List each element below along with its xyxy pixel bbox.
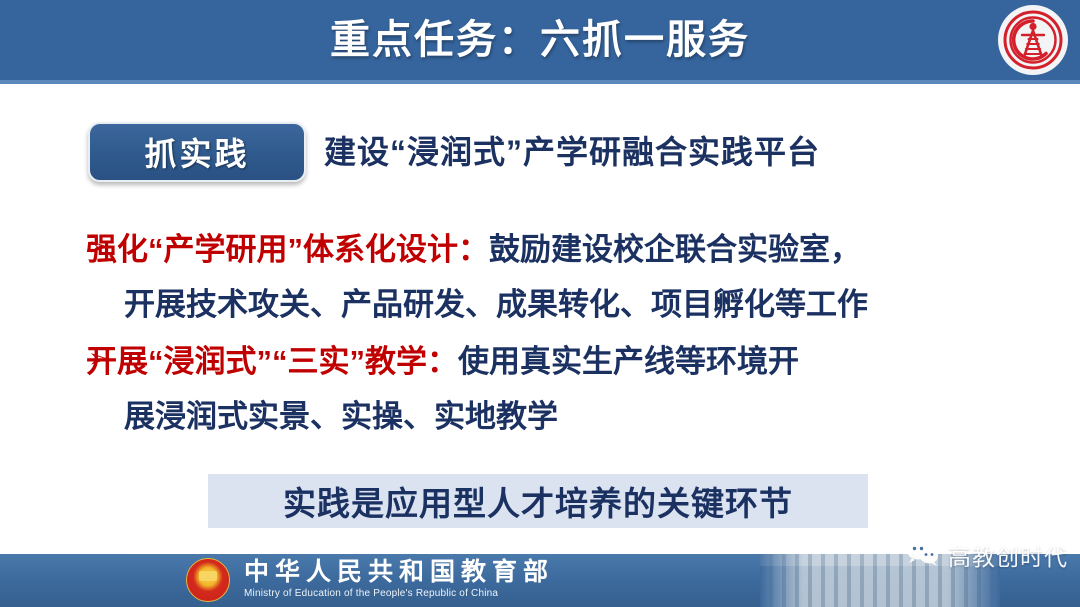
page-title: 重点任务：六抓一服务: [0, 12, 1080, 68]
tag-badge-practice[interactable]: 抓实践: [88, 122, 306, 182]
header-band-underline: [0, 80, 1080, 84]
section-headline: 建设“浸润式”产学研融合实践平台: [324, 128, 820, 176]
bullet-body-text: 使用真实生产线等环境开: [458, 344, 799, 379]
bullet-list: ➢强化“产学研用”体系化设计：鼓励建设校企联合实验室，开展技术攻关、产品研发、成…: [0, 222, 1080, 446]
bullet-emphasis-text: 强化“产学研用”体系化设计：: [86, 232, 489, 267]
ministry-name-en: Ministry of Education of the People's Re…: [244, 586, 554, 602]
section-heading-row: 抓实践 建设“浸润式”产学研融合实践平台: [0, 122, 1080, 186]
wechat-icon: [906, 540, 940, 571]
ministry-name-cn: 中华人民共和国教育部: [244, 559, 554, 586]
bullet-item: ➢开展“浸润式”“三实”教学：使用真实生产线等环境开展浸润式实景、实操、实地教学: [0, 334, 1080, 444]
summary-text: 实践是应用型人才培养的关键环节: [283, 477, 793, 525]
ministry-of-education-logo: 中华人民共和国教育部 Ministry of Education of the …: [186, 558, 554, 602]
wechat-watermark: 高教创时代: [906, 538, 1068, 572]
wechat-watermark-label: 高教创时代: [948, 538, 1068, 572]
bullet-line: 开展“浸润式”“三实”教学：使用真实生产线等环境开: [86, 334, 1080, 389]
ministry-texts: 中华人民共和国教育部 Ministry of Education of the …: [244, 559, 554, 602]
bullet-emphasis-text: 开展“浸润式”“三实”教学：: [86, 344, 458, 379]
summary-highlight-box: 实践是应用型人才培养的关键环节: [208, 474, 868, 528]
bullet-body-text: 开展技术攻关、产品研发、成果转化、项目孵化等工作: [124, 287, 868, 322]
slide-canvas: 重点任务：六抓一服务 抓实践 建设“浸润式”产学研融合实践平台 ➢强化“产学研用…: [0, 0, 1080, 607]
bullet-line: 开展技术攻关、产品研发、成果转化、项目孵化等工作: [86, 277, 1080, 332]
tag-badge-label: 抓实践: [144, 129, 249, 175]
bullet-line: 展浸润式实景、实操、实地教学: [86, 389, 1080, 444]
bullet-body-text: 鼓励建设校企联合实验室，: [489, 232, 861, 267]
bullet-line: 强化“产学研用”体系化设计：鼓励建设校企联合实验室，: [86, 222, 1080, 277]
bullet-arrow-icon: ➢: [88, 228, 110, 264]
institution-round-logo: [998, 5, 1068, 75]
bullet-arrow-icon: ➢: [88, 340, 110, 376]
bullet-body-text: 展浸润式实景、实操、实地教学: [124, 399, 558, 434]
national-emblem-icon: [186, 558, 230, 602]
bullet-item: ➢强化“产学研用”体系化设计：鼓励建设校企联合实验室，开展技术攻关、产品研发、成…: [0, 222, 1080, 332]
